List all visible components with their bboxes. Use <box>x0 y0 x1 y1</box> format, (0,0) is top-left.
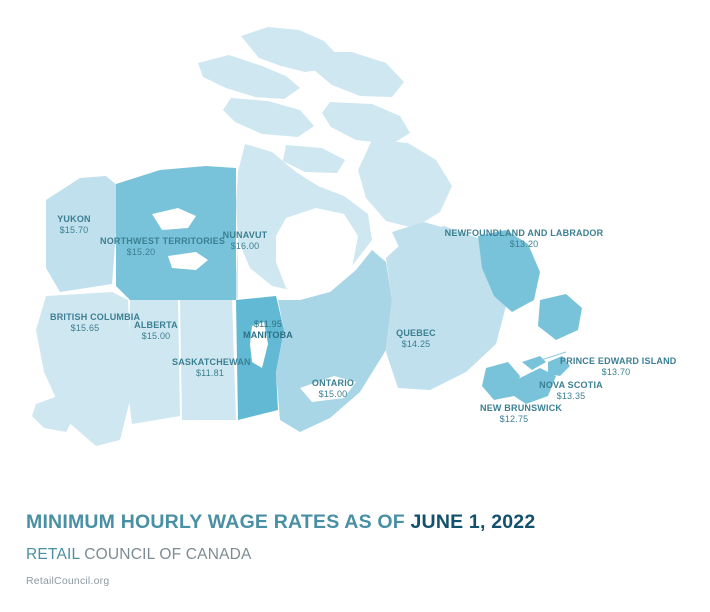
region-alberta <box>128 300 180 424</box>
region-nunavut-arctic6 <box>283 145 345 173</box>
brand-name: RETAIL COUNCIL OF CANADA <box>26 546 252 564</box>
region-yukon <box>46 176 118 292</box>
region-nunavut-arctic4 <box>223 98 314 137</box>
brand-rest: COUNCIL OF CANADA <box>80 546 252 563</box>
region-saskatchewan <box>180 300 236 420</box>
region-nunavut-arctic3 <box>314 52 404 97</box>
region-prince-edward-island <box>522 356 546 370</box>
website-url[interactable]: RetailCouncil.org <box>26 575 109 587</box>
title-main: MINIMUM HOURLY WAGE RATES AS OF <box>26 511 411 533</box>
brand-lead: RETAIL <box>26 546 80 563</box>
map-shapes <box>32 27 582 446</box>
page-title: MINIMUM HOURLY WAGE RATES AS OF JUNE 1, … <box>26 511 535 534</box>
footer: MINIMUM HOURLY WAGE RATES AS OF JUNE 1, … <box>0 480 710 612</box>
lake-huron-erie <box>344 398 382 424</box>
canada-map: YUKON $15.70 NORTHWEST TERRITORIES $15.2… <box>0 0 710 480</box>
region-cape-breton <box>548 356 570 376</box>
region-newfoundland-island <box>538 294 582 340</box>
title-date: JUNE 1, 2022 <box>411 511 536 533</box>
region-nunavut-arctic5 <box>322 102 410 144</box>
region-nunavut-baffin <box>358 140 452 228</box>
region-northwest-territories <box>116 166 236 300</box>
canada-map-svg <box>0 0 710 480</box>
